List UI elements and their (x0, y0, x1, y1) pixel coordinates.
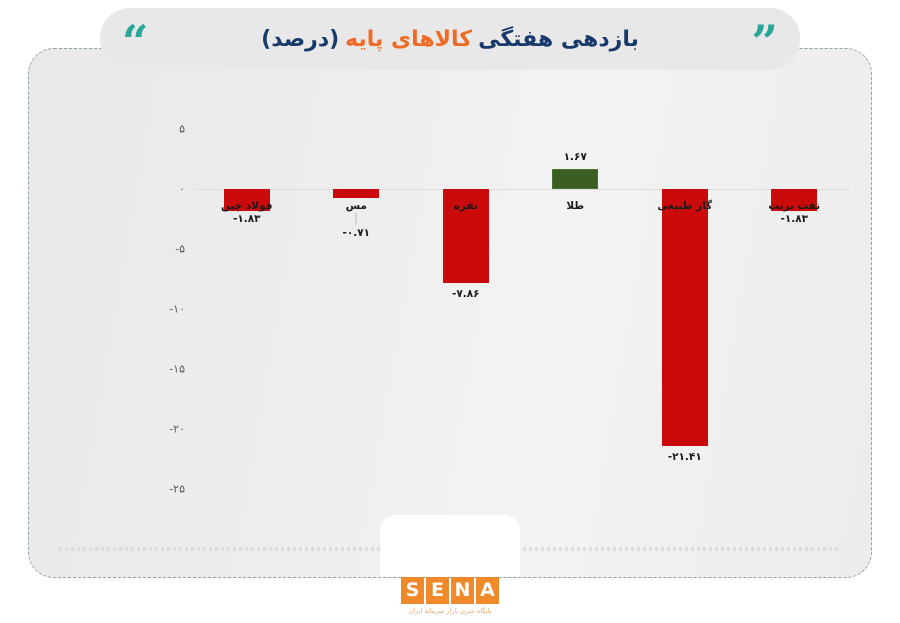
title-part-navy-2: (درصد) (261, 27, 339, 52)
bar-group[interactable]: گاز طبیعی-۲۱.۴۱ (630, 49, 740, 577)
bar-group[interactable]: فولاد چین-۱.۸۳ (192, 49, 302, 577)
sena-logo-letter: A (476, 577, 499, 604)
bar-value-label: -۰.۷۱ (342, 227, 370, 239)
bar[interactable] (333, 189, 379, 198)
bar-group[interactable]: طلا۱.۶۷ (521, 49, 631, 577)
bar-group[interactable]: مس-۰.۷۱ (302, 49, 412, 577)
bar-category-label: طلا (566, 200, 584, 212)
page-title: بازدهی هفتگی کالاهای پایه (درصد) (100, 8, 800, 70)
bar-value-label: ۱.۶۷ (564, 151, 587, 163)
bar-category-label: مس (346, 200, 367, 212)
bar-category-label: گاز طبیعی (657, 200, 712, 212)
sena-logo-letter: N (451, 577, 474, 604)
bar-group[interactable]: نقره-۷.۸۶ (411, 49, 521, 577)
sena-logo-mark: SENA (401, 577, 499, 604)
bar-value-label: -۲۱.۴۱ (668, 451, 702, 463)
y-axis-tick-label: ۰ (179, 183, 185, 196)
sena-logo-letter: E (426, 577, 449, 604)
header-band: “ ” بازدهی هفتگی کالاهای پایه (درصد) (100, 8, 800, 70)
y-axis-tick-label: -۲۵ (169, 483, 185, 496)
bar[interactable] (552, 169, 598, 189)
chart-card: ۵۰-۵-۱۰-۱۵-۲۰-۲۵ نفت برنت-۱.۸۳گاز طبیعی-… (28, 48, 872, 578)
bar-group[interactable]: نفت برنت-۱.۸۳ (740, 49, 850, 577)
bar-series: نفت برنت-۱.۸۳گاز طبیعی-۲۱.۴۱طلا۱.۶۷نقره-… (194, 49, 849, 577)
sena-logo-subtitle: پایگاه خبری بازار سرمایه ایران (390, 607, 510, 615)
bar-category-label: فولاد چین (221, 200, 273, 212)
y-axis-tick-label: -۲۰ (169, 423, 185, 436)
bar-category-label: نفت برنت (768, 200, 820, 212)
sena-logo-letter: S (401, 577, 424, 604)
bar-value-label: -۱.۸۳ (780, 213, 808, 225)
bar-category-label: نقره (454, 200, 478, 212)
footer-rule-left (59, 547, 389, 551)
sena-logo: SENA پایگاه خبری بازار سرمایه ایران (390, 577, 510, 615)
footer-rule-right (511, 547, 841, 551)
title-part-orange: کالاهای پایه (345, 27, 472, 52)
y-axis-tick-label: ۵ (179, 123, 185, 136)
y-axis-tick-label: -۱۵ (169, 363, 185, 376)
bar[interactable] (662, 189, 708, 446)
plot-area: ۵۰-۵-۱۰-۱۵-۲۰-۲۵ نفت برنت-۱.۸۳گاز طبیعی-… (29, 49, 871, 577)
leader-line (356, 213, 357, 225)
y-axis-tick-label: -۵ (175, 243, 185, 256)
y-axis-tick-label: -۱۰ (169, 303, 185, 316)
logo-notch (380, 515, 520, 577)
bar-value-label: -۷.۸۶ (452, 288, 480, 300)
bar-value-label: -۱.۸۳ (233, 213, 261, 225)
y-axis-ticks: ۵۰-۵-۱۰-۱۵-۲۰-۲۵ (139, 49, 185, 577)
title-part-navy-1: بازدهی هفتگی (478, 27, 639, 52)
